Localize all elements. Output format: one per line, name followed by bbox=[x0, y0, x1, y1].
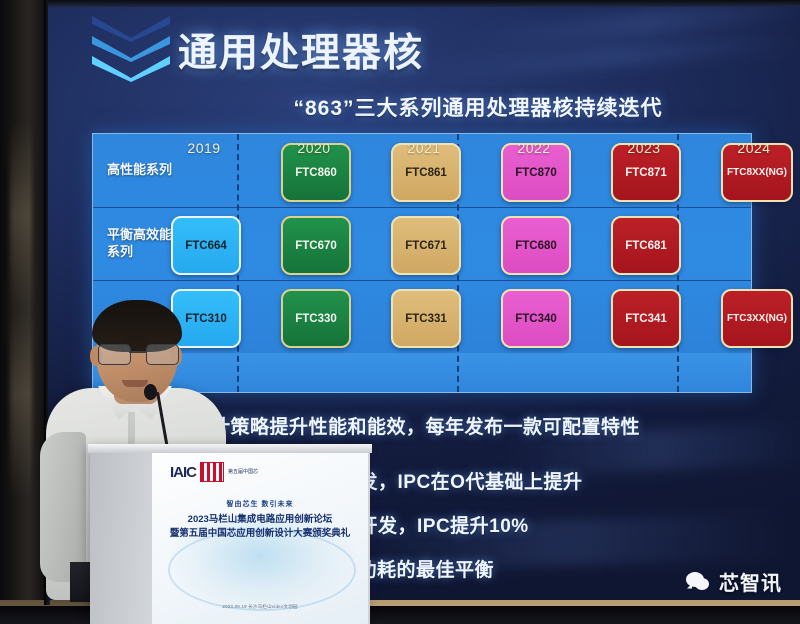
watermark-text: 芯智讯 bbox=[719, 567, 782, 596]
speaker-mouth bbox=[122, 380, 148, 387]
year-label-2020: 2020 bbox=[259, 140, 369, 156]
year-label-2023: 2023 bbox=[589, 140, 699, 156]
podium-top-edge bbox=[88, 444, 372, 453]
chip-ftc340: FTC340 bbox=[501, 289, 571, 348]
year-label-2024: 2024 bbox=[699, 140, 800, 156]
page-title: 通用处理器核 bbox=[178, 22, 424, 78]
iaic-logo-sub: 第五届中国芯 bbox=[228, 469, 258, 475]
chip-ftc671: FTC671 bbox=[391, 216, 461, 275]
chip-ftc664: FTC664 bbox=[171, 216, 241, 275]
iaic-logo-text: IAIC bbox=[170, 464, 196, 481]
sign-arc-graphic bbox=[168, 529, 356, 611]
sign-title-line-2: 暨第五届中国芯应用创新设计大赛颁奖典礼 bbox=[152, 525, 368, 539]
year-label-2022: 2022 bbox=[479, 140, 589, 156]
sign-title-line-1: 2023马栏山集成电路应用创新论坛 bbox=[152, 511, 368, 525]
slide-subtitle: “863”三大系列通用处理器核持续迭代 bbox=[168, 92, 788, 122]
microphone-icon bbox=[144, 384, 157, 400]
chip-ftc331: FTC331 bbox=[391, 289, 461, 348]
logo-mark-icon bbox=[200, 462, 224, 482]
row-label-high-performance: 高性能系列 bbox=[107, 161, 199, 178]
year-label-2019: 2019 bbox=[149, 140, 259, 156]
wechat-icon bbox=[686, 572, 712, 592]
bullet-line-1: 代设计策略提升性能和能效，每年发布一款可配置特性 bbox=[172, 412, 640, 439]
chip-ftc681: FTC681 bbox=[611, 216, 681, 275]
speaker-eyebrow bbox=[98, 338, 124, 342]
watermark: 芯智讯 bbox=[686, 567, 782, 596]
chip-ftc3xx-ng: FTC3XX(NG) bbox=[721, 289, 793, 348]
speaker-arm bbox=[40, 432, 86, 582]
podium-sign: IAIC 第五届中国芯 智由芯生 数引未来 2023马栏山集成电路应用创新论坛 … bbox=[152, 453, 368, 624]
chip-ftc330: FTC330 bbox=[281, 289, 351, 348]
year-label-2021: 2021 bbox=[369, 140, 479, 156]
sign-slogan: 智由芯生 数引未来 bbox=[152, 499, 368, 509]
chip-ftc670: FTC670 bbox=[281, 216, 351, 275]
screen-bezel-top bbox=[48, 0, 800, 7]
chip-ftc680: FTC680 bbox=[501, 216, 571, 275]
podium-side-panel bbox=[90, 452, 152, 624]
speaker-eyebrow bbox=[146, 338, 172, 342]
glasses-icon bbox=[96, 344, 180, 364]
iaic-logo: IAIC 第五届中国芯 bbox=[170, 459, 270, 485]
sign-footer: 2023.09.19 长沙马栏山video文创园 bbox=[152, 604, 368, 610]
screenshot-stage: 通用处理器核 “863”三大系列通用处理器核持续迭代 高性能系列 平衡高效能系列… bbox=[0, 0, 800, 624]
chevron-down-logo bbox=[92, 16, 178, 94]
chip-ftc341: FTC341 bbox=[611, 289, 681, 348]
pillar-reflection bbox=[10, 120, 32, 500]
